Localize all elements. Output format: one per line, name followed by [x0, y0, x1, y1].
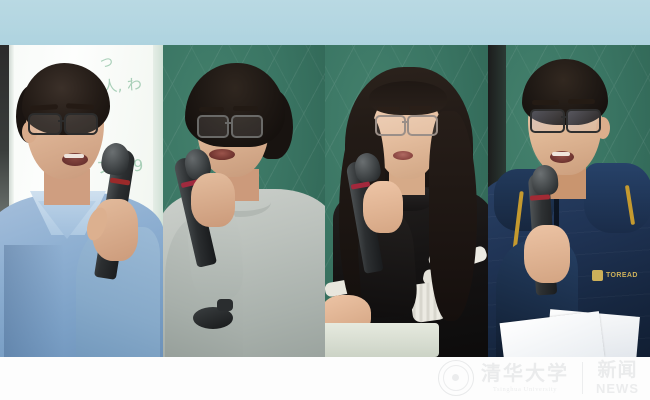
jacket-brand-logo: TOREAD — [592, 269, 638, 281]
speaker-4-teeth — [552, 152, 570, 156]
brand-mark-icon — [592, 270, 603, 281]
presenter-remote-tip — [217, 299, 233, 311]
brand-label: TOREAD — [606, 272, 638, 279]
top-color-band — [0, 0, 650, 45]
glasses-bridge — [561, 116, 567, 118]
university-name-block: 清华大学 Tsinghua University — [481, 363, 569, 393]
glasses-icon — [64, 113, 98, 135]
watermark-divider — [582, 362, 583, 394]
speaker-4-hand — [524, 225, 570, 283]
tsinghua-seal-icon — [438, 360, 474, 396]
speaker-1-teeth — [64, 154, 84, 158]
speaker-4-eyebrow — [568, 99, 595, 104]
glasses-icon — [530, 109, 565, 133]
glasses-bridge — [225, 122, 232, 124]
speaker-4-hood-right — [584, 163, 650, 233]
tsinghua-news-watermark: 清华大学 Tsinghua University 新闻 NEWS — [438, 358, 643, 398]
wall-edge-highlight — [9, 45, 14, 221]
speaker-2-mouth — [209, 149, 235, 160]
speaker-2-eyebrow — [199, 107, 224, 112]
speaker-1-torso-shadow — [4, 245, 64, 357]
speaker-3-mouth — [393, 151, 413, 160]
photo-strip: つ 9 人, わ フヨ 9 か — [0, 45, 650, 357]
news-label-cn: 新闻 — [597, 361, 637, 380]
glasses-icon — [566, 109, 601, 133]
speaker-3-hand — [363, 181, 403, 233]
panel-speaker-2 — [163, 45, 325, 357]
panel-speaker-4: TOREAD — [488, 45, 650, 357]
university-name-en: Tsinghua University — [493, 386, 557, 393]
news-section-block: 新闻 NEWS — [596, 361, 639, 396]
desk — [325, 323, 439, 357]
glasses-icon — [197, 115, 229, 138]
panel-speaker-1: つ 9 人, わ フヨ 9 か — [0, 45, 163, 357]
glasses-icon — [231, 115, 263, 138]
news-label-en: NEWS — [596, 381, 639, 396]
glasses-icon — [407, 115, 438, 136]
speaker-3-eyebrow — [409, 106, 432, 110]
glasses-bridge — [402, 121, 408, 123]
university-name-cn: 清华大学 — [481, 363, 569, 383]
speaker-2-eyebrow — [233, 106, 258, 111]
wall-edge — [0, 45, 9, 221]
glasses-bridge — [58, 120, 66, 122]
speaker-4-eyebrow — [532, 100, 559, 105]
glasses-icon — [375, 115, 406, 136]
panel-speaker-3 — [325, 45, 488, 357]
speaker-3-eyebrow — [377, 107, 400, 111]
speaker-3-hair-right — [429, 111, 477, 321]
chalk-note: つ — [99, 51, 114, 71]
speaker-2-hand — [191, 173, 235, 227]
glasses-icon — [28, 113, 62, 135]
photo-composite: つ 9 人, わ フヨ 9 か — [0, 0, 650, 400]
